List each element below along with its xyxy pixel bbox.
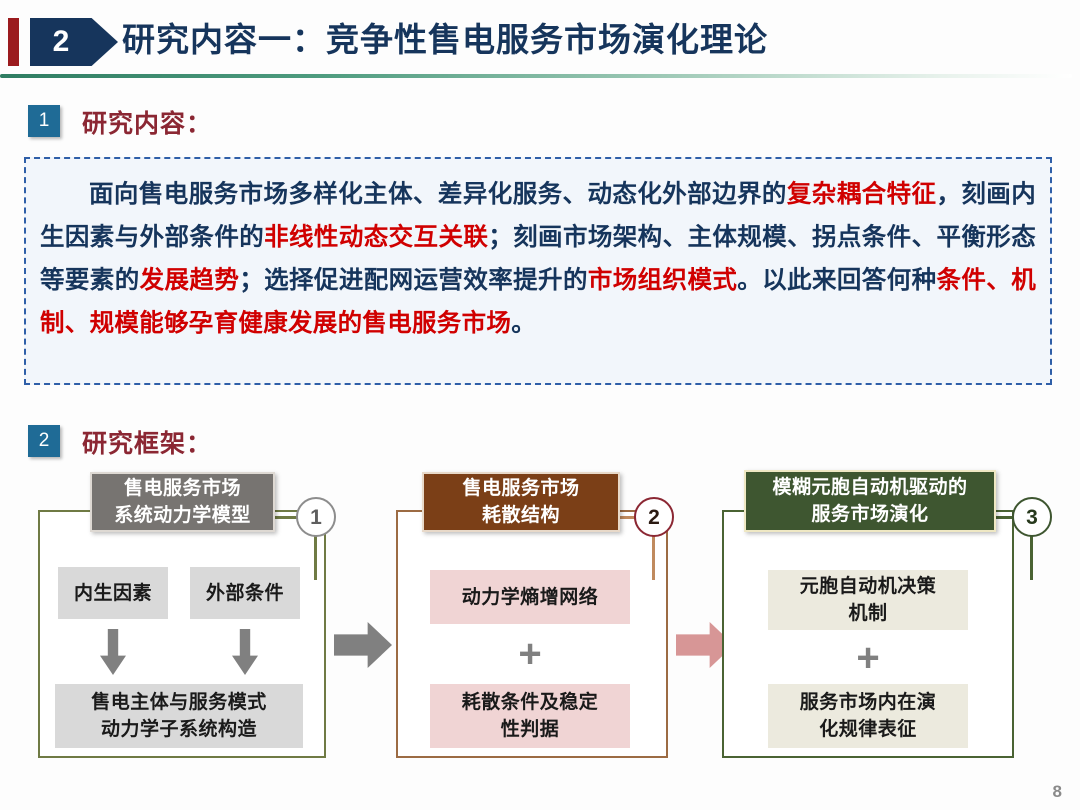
panel-2-header: 售电服务市场 耗散结构 xyxy=(422,472,620,532)
flow-arrow-panel1-to-panel2-icon xyxy=(334,622,392,668)
paragraph-segment-6: ；选择促进配网运营效率提升的 xyxy=(239,267,588,294)
research-framework-diagram: 售电服务市场 系统动力学模型 1 内生因素 外部条件 售电主体与服务模式 动力学… xyxy=(0,462,1080,792)
panel-2-step-number: 2 xyxy=(634,497,674,537)
panel-2-box-c-line-2: 性判据 xyxy=(462,716,599,743)
paragraph-segment-3: 非线性动态交互关联 xyxy=(264,224,488,251)
panel-3-connector-vertical xyxy=(1030,535,1033,580)
panel-1-connector-vertical xyxy=(314,535,317,580)
paragraph-segment-1: 复杂耦合特征 xyxy=(787,181,937,208)
panel-3-plus-symbol: + xyxy=(838,638,898,678)
research-content-textbox: 面向售电服务市场多样化主体、差异化服务、动态化外部边界的复杂耦合特征，刻画内生因… xyxy=(24,157,1052,385)
header-red-accent-bar xyxy=(8,18,19,66)
paragraph-segment-5: 发展趋势 xyxy=(140,267,240,294)
panel-3-box-ca-decision-mechanism: 元胞自动机决策 机制 xyxy=(768,570,968,630)
panel-2-header-line-1: 售电服务市场 xyxy=(462,475,579,502)
panel-1-header-line-1: 售电服务市场 xyxy=(114,475,251,502)
panel-1-box-c-line-1: 售电主体与服务模式 xyxy=(91,689,267,716)
page-title: 研究内容一：竞争性售电服务市场演化理论 xyxy=(122,14,768,66)
panel-3-step-number: 3 xyxy=(1012,497,1052,537)
header-divider-rule xyxy=(0,74,1072,78)
paragraph-segment-7: 市场组织模式 xyxy=(588,267,737,294)
panel-1-header: 售电服务市场 系统动力学模型 xyxy=(90,472,275,532)
panel-3-connector-horizontal xyxy=(995,516,1013,519)
panel-2-box-c-line-1: 耗散条件及稳定 xyxy=(462,689,599,716)
panel-1-connector-horizontal xyxy=(275,516,297,519)
panel-3-box-a-line-1: 元胞自动机决策 xyxy=(800,573,937,600)
panel-1-box-external-conditions: 外部条件 xyxy=(190,567,300,619)
panel-3-box-a-line-2: 机制 xyxy=(800,600,937,627)
header-section-badge: 2 xyxy=(30,18,118,66)
panel-2-connector-vertical xyxy=(652,535,655,580)
panel-2-box-dissipation-criteria: 耗散条件及稳定 性判据 xyxy=(430,684,630,748)
panel-3-box-evolution-law: 服务市场内在演 化规律表征 xyxy=(768,684,968,748)
header-badge-number: 2 xyxy=(30,18,92,66)
panel-3-box-c-line-1: 服务市场内在演 xyxy=(800,689,937,716)
paragraph-segment-0: 面向售电服务市场多样化主体、差异化服务、动态化外部边界的 xyxy=(89,181,787,208)
panel-1-step-number: 1 xyxy=(296,497,336,537)
panel-1-header-line-2: 系统动力学模型 xyxy=(114,502,251,529)
panel-1-box-c-line-2: 动力学子系统构造 xyxy=(91,716,267,743)
panel-2-header-line-2: 耗散结构 xyxy=(462,502,579,529)
panel-3-box-c-line-2: 化规律表征 xyxy=(800,716,937,743)
panel-3-header-line-1: 模糊元胞自动机驱动的 xyxy=(772,474,967,501)
research-content-paragraph: 面向售电服务市场多样化主体、差异化服务、动态化外部边界的复杂耦合特征，刻画内生因… xyxy=(40,173,1036,345)
panel-3-header-line-2: 服务市场演化 xyxy=(772,501,967,528)
panel-2-plus-symbol: + xyxy=(500,634,560,674)
paragraph-segment-8: 。以此来回答何种 xyxy=(737,267,936,294)
panel-2-box-entropy-network: 动力学熵增网络 xyxy=(430,570,630,624)
section-2-badge: 2 xyxy=(28,425,60,457)
panel-3-header: 模糊元胞自动机驱动的 服务市场演化 xyxy=(744,470,996,532)
slide-header: 2 研究内容一：竞争性售电服务市场演化理论 xyxy=(0,0,1080,88)
section-2-title: 研究框架： xyxy=(82,424,212,460)
page-number: 8 xyxy=(1053,782,1062,802)
panel-1-box-endogenous-factors: 内生因素 xyxy=(58,567,168,619)
panel-1-box-subsystem-construction: 售电主体与服务模式 动力学子系统构造 xyxy=(55,684,303,748)
section-1-badge: 1 xyxy=(28,105,60,137)
section-1-title: 研究内容： xyxy=(82,104,212,140)
paragraph-segment-10: 。 xyxy=(511,310,536,337)
